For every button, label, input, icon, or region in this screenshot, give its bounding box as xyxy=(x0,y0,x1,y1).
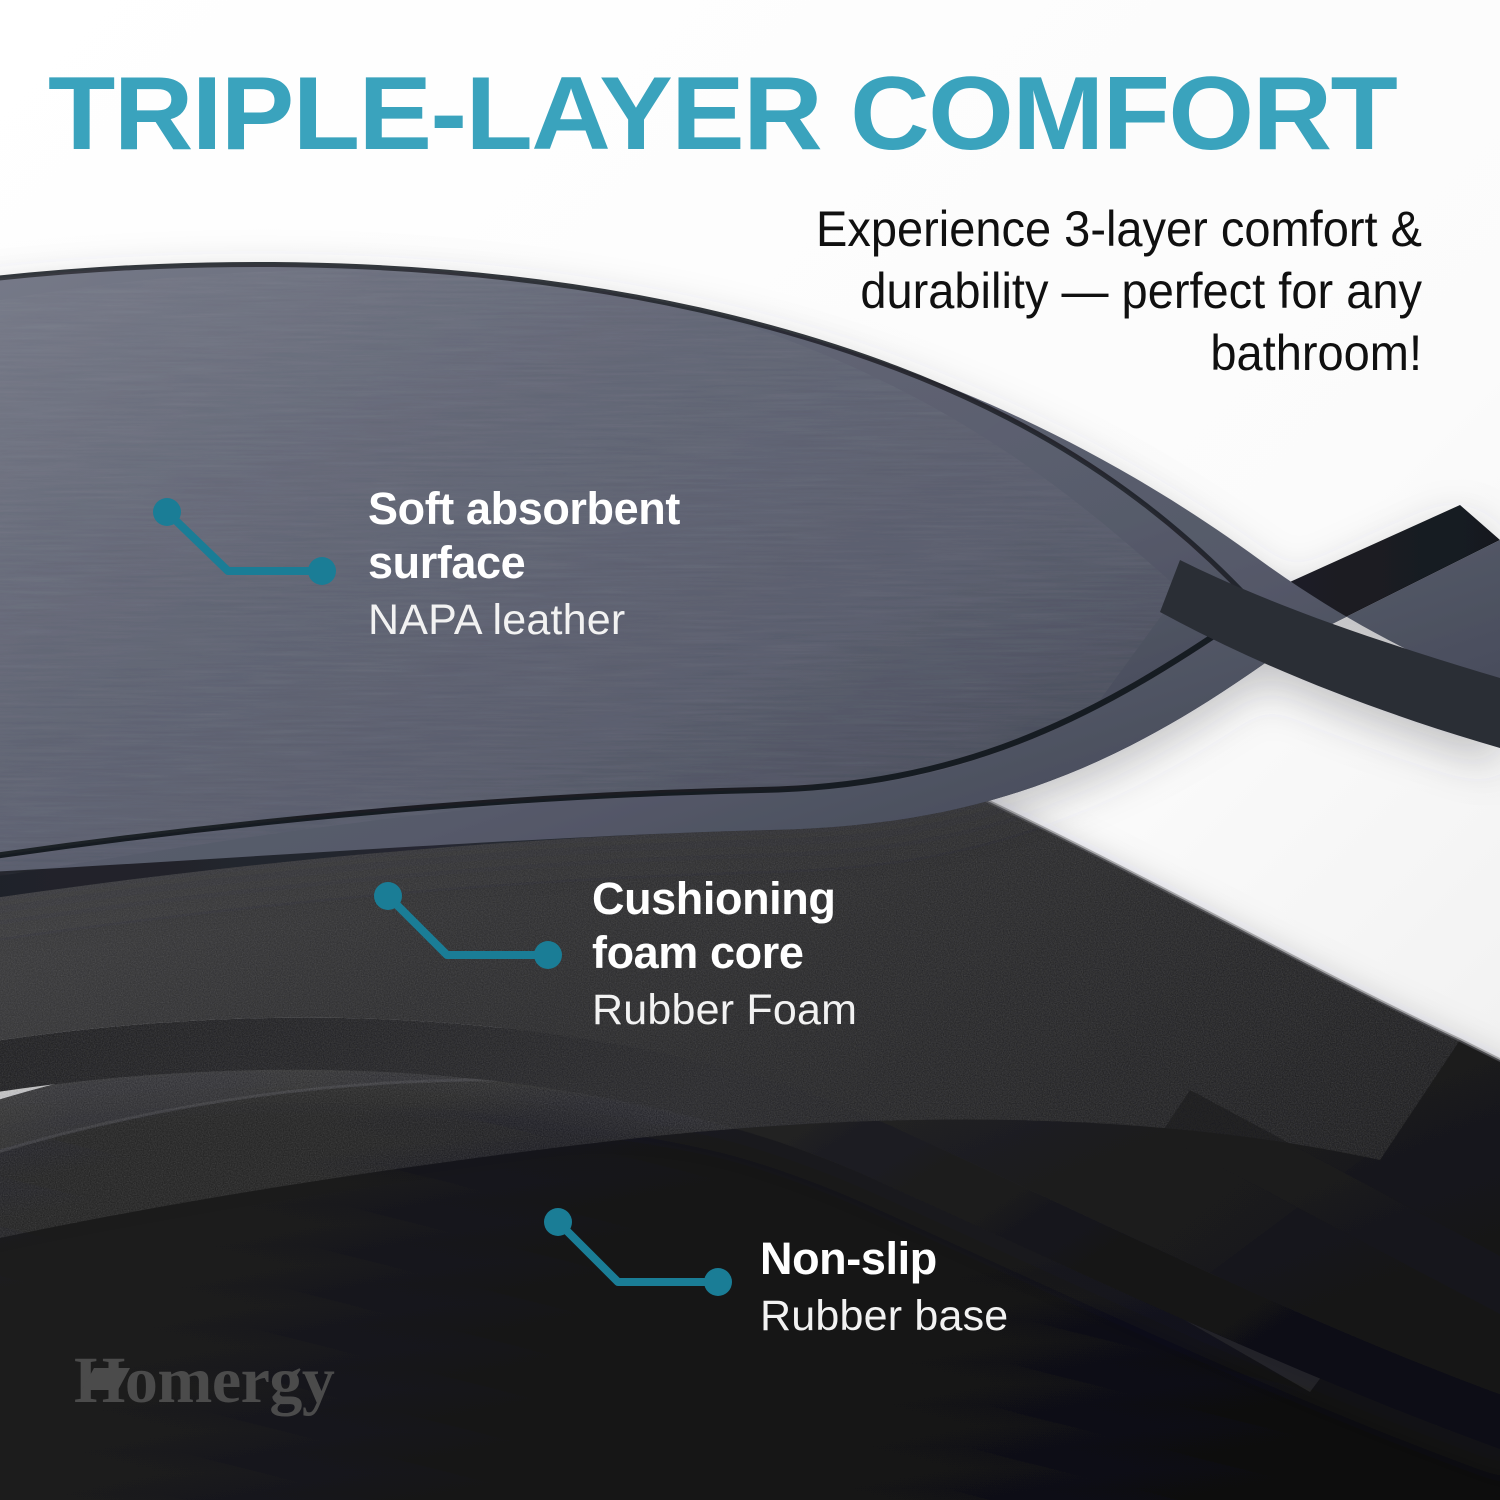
page-title: TRIPLE-LAYER COMFORT xyxy=(48,62,1396,166)
callout-3-title: Non-slip xyxy=(760,1232,1008,1286)
callout-1-title: Soft absorbent surface xyxy=(368,482,680,590)
callout-cushioning-foam-core: Cushioning foam core Rubber Foam xyxy=(592,872,857,1038)
callout-2-title: Cushioning foam core xyxy=(592,872,857,980)
callout-non-slip: Non-slip Rubber base xyxy=(760,1232,1008,1344)
house-roof-icon xyxy=(68,1360,132,1406)
callout-soft-absorbent-surface: Soft absorbent surface NAPA leather xyxy=(368,482,680,648)
callout-3-subtitle: Rubber base xyxy=(760,1290,1008,1344)
callout-1-subtitle: NAPA leather xyxy=(368,594,680,648)
brand-logo: Homergy xyxy=(74,1348,334,1414)
subtitle: Experience 3-layer comfort & durability … xyxy=(708,198,1422,384)
product-infographic: TRIPLE-LAYER COMFORT Experience 3-layer … xyxy=(0,0,1500,1500)
callout-2-subtitle: Rubber Foam xyxy=(592,984,857,1038)
